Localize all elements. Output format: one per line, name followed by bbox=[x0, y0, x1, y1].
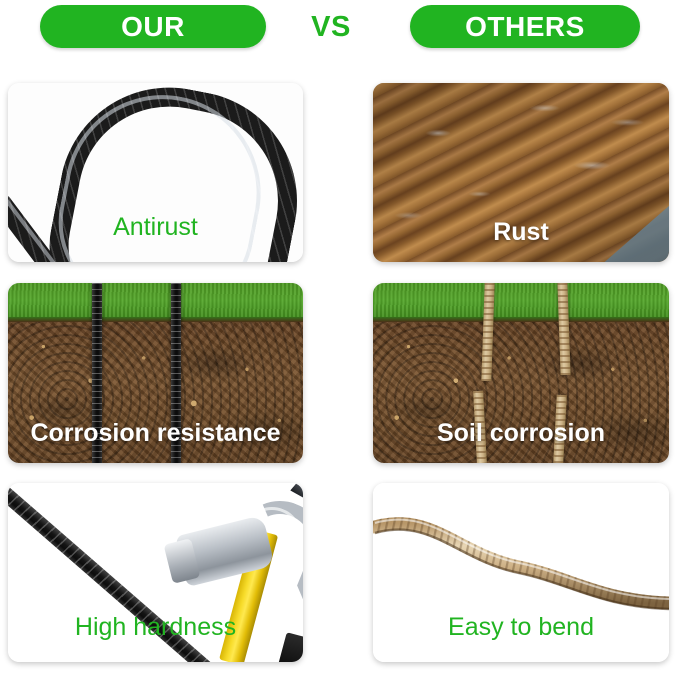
our-pill-label: OUR bbox=[121, 13, 185, 41]
rebar-ribs-texture bbox=[8, 83, 303, 262]
others-pill: OTHERS bbox=[410, 5, 640, 48]
vs-label: VS bbox=[300, 8, 362, 46]
claw-hammer bbox=[158, 495, 303, 655]
soil-shading bbox=[373, 321, 669, 463]
grass-soil-boundary bbox=[373, 317, 669, 322]
image-soil-with-intact-stakes bbox=[8, 283, 303, 463]
image-soil-with-broken-stakes bbox=[373, 283, 669, 463]
our-pill: OUR bbox=[40, 5, 266, 48]
card-others-easy-to-bend: Easy to bend bbox=[373, 483, 669, 662]
grass-layer bbox=[8, 283, 303, 321]
image-stake-with-hammer bbox=[8, 483, 303, 662]
j-hook-shape bbox=[8, 83, 303, 262]
card-our-high-hardness: High hardness bbox=[8, 483, 303, 662]
card-others-soil-corrosion: Soil corrosion bbox=[373, 283, 669, 463]
rust-shading bbox=[373, 83, 669, 262]
card-our-antirust: Antirust bbox=[8, 83, 303, 262]
image-rusty-rebar-stack bbox=[373, 83, 669, 262]
image-wavy-bent-rebar bbox=[373, 483, 669, 662]
soil-layer bbox=[8, 321, 303, 463]
intact-stake-right bbox=[171, 283, 181, 463]
intact-stake-left bbox=[92, 283, 102, 463]
grass-soil-boundary bbox=[8, 317, 303, 322]
card-our-corrosion-resistance: Corrosion resistance bbox=[8, 283, 303, 463]
grass-layer bbox=[373, 283, 669, 321]
image-black-j-hook-rebar bbox=[8, 83, 303, 262]
bent-rebar-drawing bbox=[373, 483, 669, 662]
others-pill-label: OTHERS bbox=[465, 13, 585, 41]
hammer-grip bbox=[278, 632, 303, 662]
soil-shading bbox=[8, 321, 303, 463]
soil-layer bbox=[373, 321, 669, 463]
card-others-rust: Rust bbox=[373, 83, 669, 262]
comparison-header: OUR VS OTHERS bbox=[0, 0, 679, 62]
